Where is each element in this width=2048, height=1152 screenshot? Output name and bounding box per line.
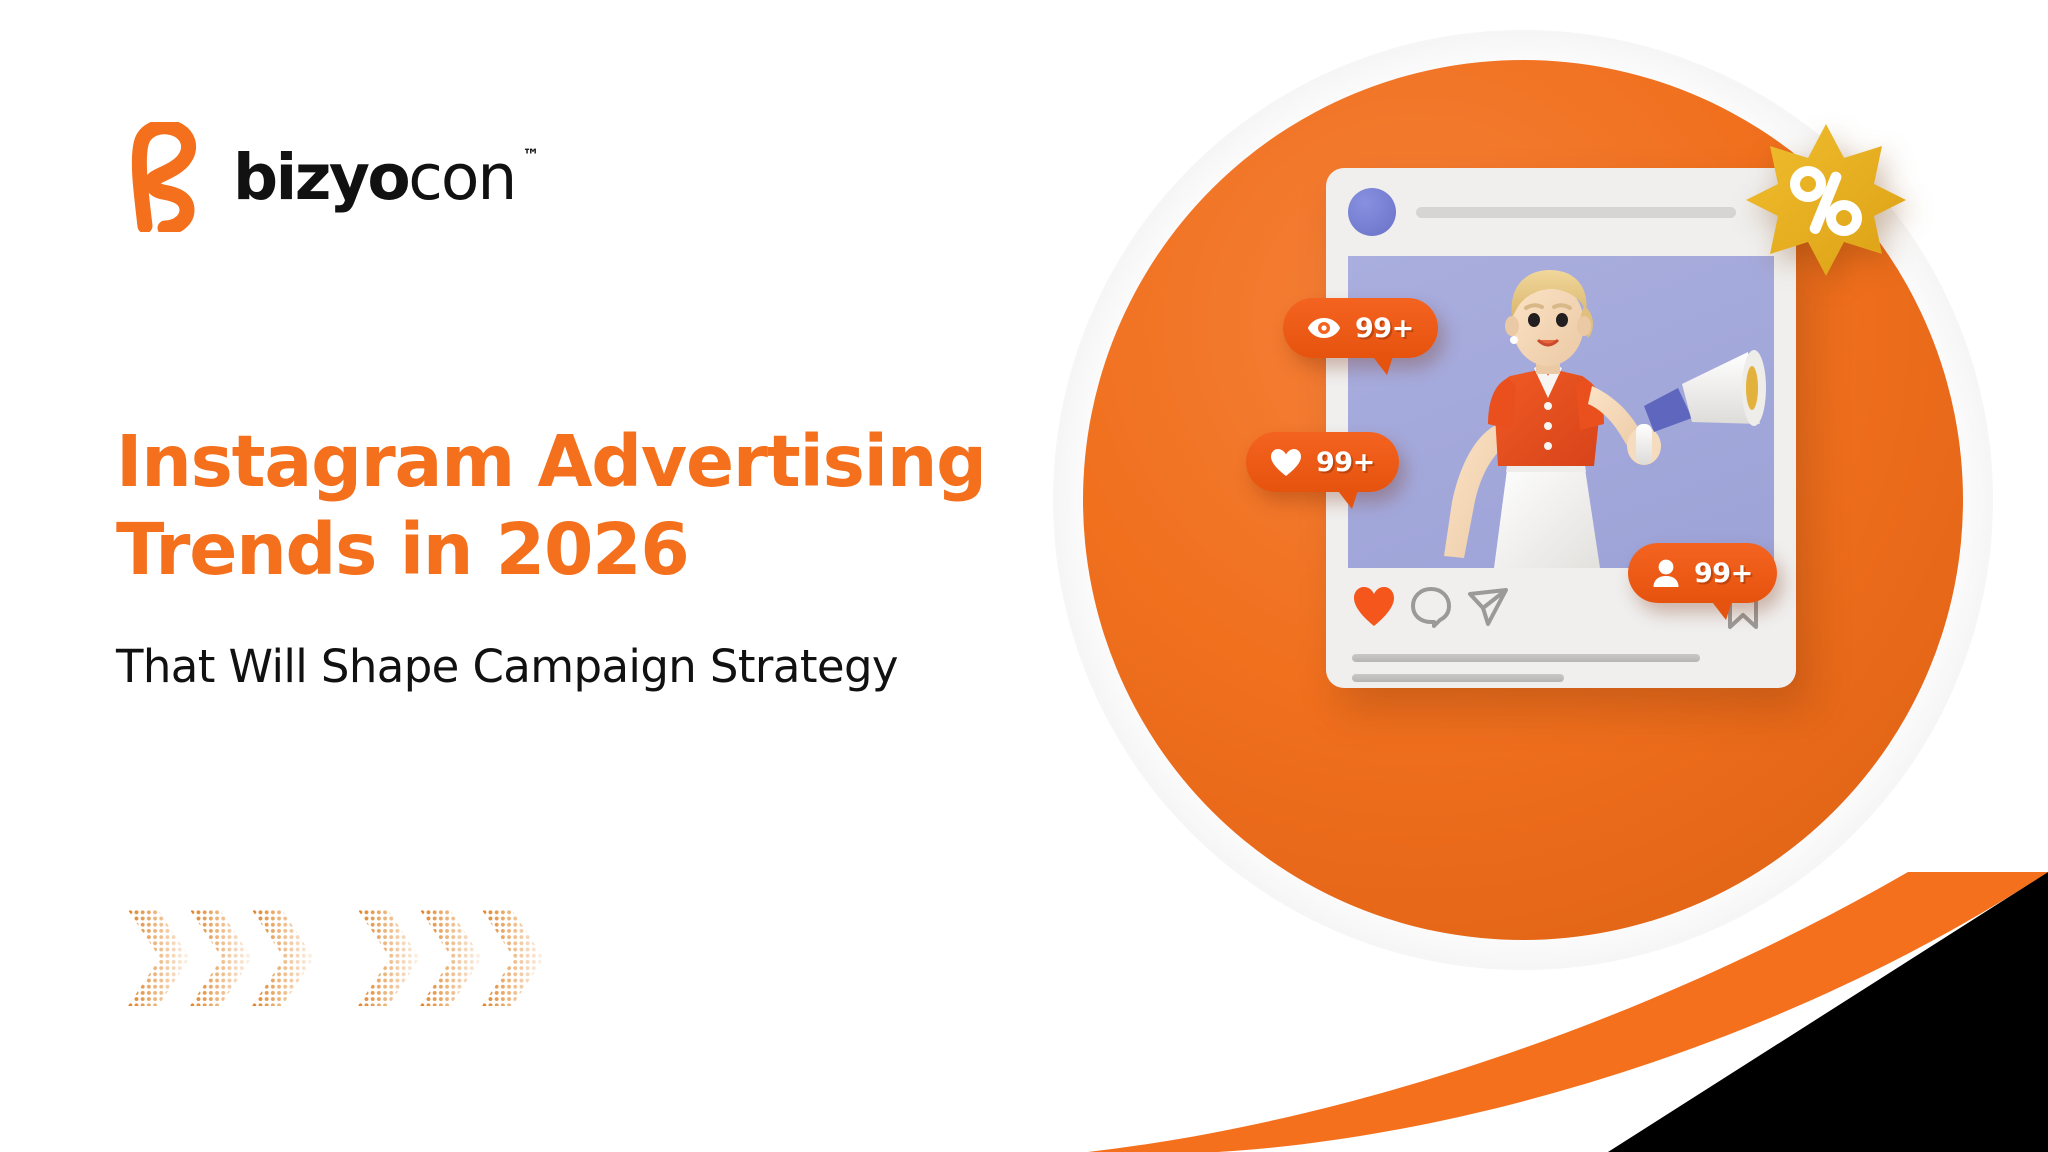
decorative-chevrons <box>128 910 544 1006</box>
post-header <box>1348 188 1736 236</box>
views-badge[interactable]: 99+ <box>1283 298 1438 358</box>
logo-text-bold: bizyo <box>233 141 408 214</box>
comment-bubble-icon[interactable] <box>1410 586 1452 628</box>
headline-line-2: Trends in 2026 <box>116 506 1076 594</box>
chevron-group-2 <box>358 910 544 1006</box>
logo-text-light: con <box>408 141 515 214</box>
badge-tail <box>1370 353 1394 375</box>
badge-tail <box>1709 598 1733 620</box>
caption-line-1 <box>1352 654 1700 662</box>
eye-icon <box>1307 316 1341 340</box>
chevron-group-1 <box>128 910 314 1006</box>
heart-icon <box>1270 448 1302 477</box>
percent-star-badge <box>1746 120 1906 280</box>
headline-line-1: Instagram Advertising <box>116 418 1076 506</box>
like-heart-icon[interactable] <box>1352 586 1396 628</box>
views-count: 99+ <box>1355 313 1414 344</box>
badge-tail <box>1335 487 1359 509</box>
hero-illustration: 99+ 99+ 99+ <box>978 0 2048 1152</box>
trademark-symbol: ™ <box>522 148 539 165</box>
chevron-right-icon <box>482 910 544 1006</box>
chevron-right-icon <box>358 910 420 1006</box>
brand-wordmark: bizyocon™ <box>233 146 515 209</box>
username-placeholder-bar <box>1416 207 1736 218</box>
likes-count: 99+ <box>1316 447 1375 478</box>
followers-badge[interactable]: 99+ <box>1628 543 1777 603</box>
bizyocon-b-mark-icon <box>125 122 217 232</box>
chevron-right-icon <box>190 910 252 1006</box>
chevron-right-icon <box>128 910 190 1006</box>
followers-count: 99+ <box>1694 558 1753 589</box>
likes-badge[interactable]: 99+ <box>1246 432 1399 492</box>
chevron-right-icon <box>420 910 482 1006</box>
chevron-right-icon <box>252 910 314 1006</box>
share-paper-plane-icon[interactable] <box>1466 586 1510 628</box>
caption-line-2 <box>1352 674 1564 682</box>
brand-logo[interactable]: bizyocon™ <box>125 122 515 232</box>
avatar <box>1348 188 1396 236</box>
person-icon <box>1652 559 1680 588</box>
page-subtitle: That Will Shape Campaign Strategy <box>116 640 898 693</box>
page-title: Instagram Advertising Trends in 2026 <box>116 418 1076 594</box>
